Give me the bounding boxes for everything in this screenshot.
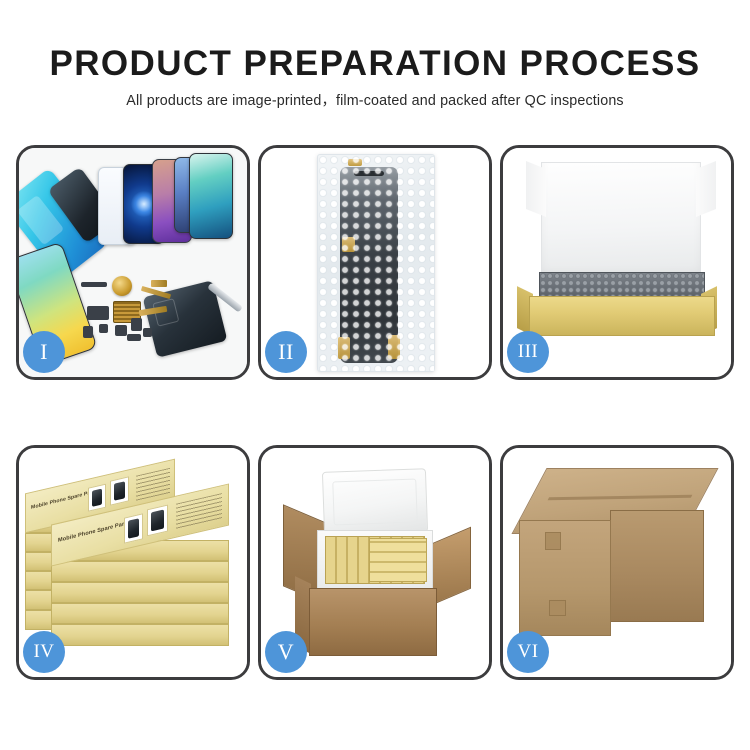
infographic-page: PRODUCT PREPARATION PROCESS All products… bbox=[0, 0, 750, 750]
stacked-box-r4 bbox=[51, 603, 229, 624]
page-title: PRODUCT PREPARATION PROCESS bbox=[0, 44, 750, 84]
spare-part-button bbox=[115, 325, 127, 336]
phone-teal-display bbox=[189, 153, 233, 239]
carton-front-face bbox=[519, 520, 611, 636]
carton-tape-upper bbox=[545, 532, 561, 550]
step-badge-2: II bbox=[265, 331, 307, 373]
carton-tape-lower bbox=[549, 600, 566, 616]
tape-top bbox=[348, 159, 362, 166]
stacked-box-r2 bbox=[51, 561, 229, 582]
page-subtitle: All products are image-printed，film-coat… bbox=[0, 89, 750, 110]
stacked-box-r5 bbox=[51, 624, 229, 646]
spare-part-sim-tray bbox=[131, 318, 142, 331]
bubble-wrap-bag bbox=[317, 154, 435, 372]
tape-bottom-left bbox=[338, 337, 350, 359]
carton-right-face bbox=[610, 510, 704, 622]
spare-part-sensor bbox=[143, 328, 152, 337]
step-badge-5: V bbox=[265, 631, 307, 673]
header: PRODUCT PREPARATION PROCESS All products… bbox=[0, 0, 750, 128]
process-step-grid: I II bbox=[16, 145, 734, 690]
box-window-rear-2 bbox=[110, 476, 129, 505]
step-panel-4[interactable]: Mobile Phone Spare Parts Mobile Phone Sp… bbox=[16, 445, 250, 680]
step-panel-5[interactable]: V bbox=[258, 445, 492, 680]
box-window-front-2 bbox=[147, 505, 168, 537]
spare-part-speaker bbox=[81, 282, 107, 287]
box-spec-text-rear bbox=[136, 468, 170, 501]
gold-connector-tab bbox=[151, 280, 167, 287]
spare-part-bracket bbox=[87, 306, 109, 320]
step-panel-3[interactable]: III bbox=[500, 145, 734, 380]
kraft-box-front bbox=[529, 296, 715, 336]
box-label-front: Mobile Phone Spare Parts bbox=[58, 520, 130, 544]
screen-assembly-inside bbox=[340, 167, 398, 363]
stacked-box-r3 bbox=[51, 582, 229, 603]
gold-boxes-row-flat bbox=[369, 538, 427, 582]
spare-part-camera bbox=[83, 326, 93, 338]
step-badge-4: IV bbox=[23, 631, 65, 673]
retail-box-stack: Mobile Phone Spare Parts Mobile Phone Sp… bbox=[25, 462, 243, 662]
step-badge-3: III bbox=[507, 331, 549, 373]
step-badge-6: VI bbox=[507, 631, 549, 673]
white-foam-lid bbox=[541, 162, 701, 279]
step-panel-1[interactable]: I bbox=[16, 145, 250, 380]
carton-front-wall bbox=[309, 588, 437, 656]
spare-part-connector bbox=[127, 334, 141, 341]
spare-part-screw-plate bbox=[99, 324, 108, 333]
tape-bottom-right bbox=[388, 335, 400, 359]
styrofoam-lid bbox=[322, 468, 428, 536]
grey-foam-tray bbox=[539, 272, 705, 298]
box-spec-text-front bbox=[176, 493, 222, 531]
box-window-rear-1 bbox=[88, 484, 106, 512]
step-panel-6[interactable]: VI bbox=[500, 445, 734, 680]
vibrator-motor-part bbox=[112, 276, 132, 296]
step-panel-2[interactable]: II bbox=[258, 145, 492, 380]
step-badge-1: I bbox=[23, 331, 65, 373]
box-window-front-1 bbox=[124, 513, 143, 543]
tape-middle bbox=[342, 237, 355, 252]
